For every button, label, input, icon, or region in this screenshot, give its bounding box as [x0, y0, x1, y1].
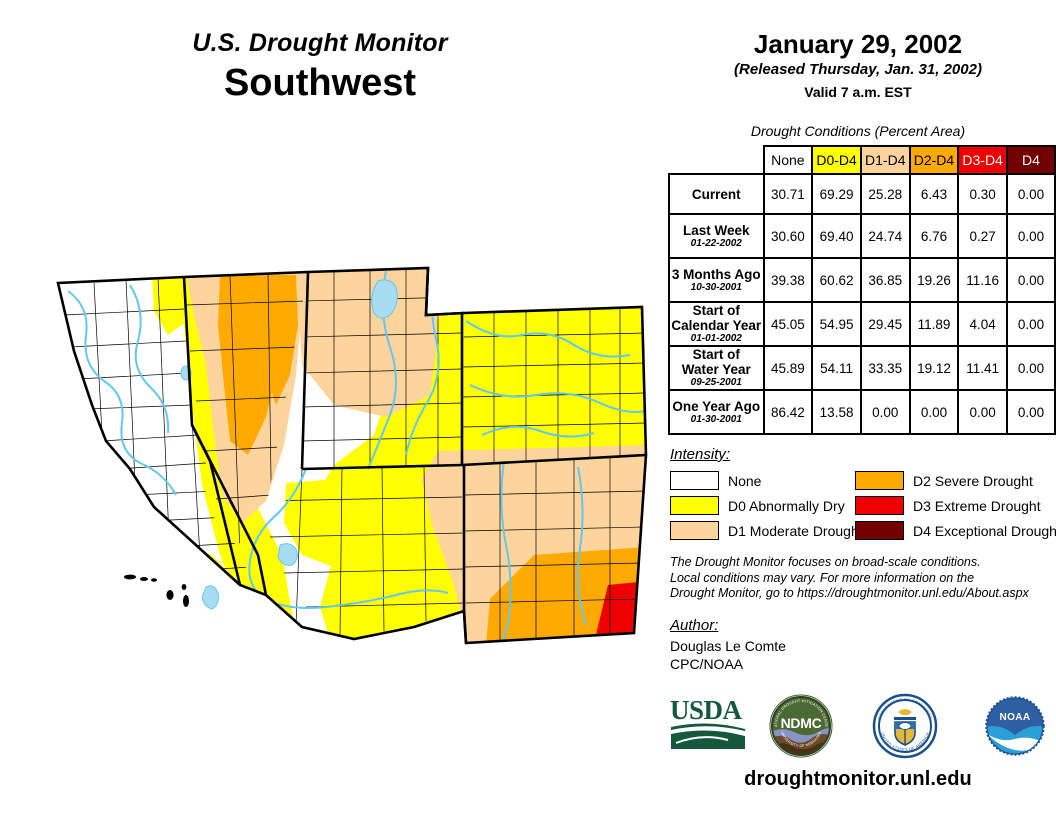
cell-d3-d4: 11.41	[958, 346, 1007, 390]
cell-d0-d4: 69.29	[812, 174, 861, 214]
legend-heading: Intensity:	[670, 446, 730, 463]
drought-map[interactable]	[34, 255, 654, 675]
cell-d1-d4: 0.00	[861, 390, 910, 434]
author-heading: Author:	[670, 617, 718, 634]
disclaimer-line-1: The Drought Monitor focuses on broad-sca…	[670, 555, 1050, 571]
legend-swatch-d2	[855, 471, 904, 490]
row-label-cell: Start of Water Year 09-25-2001	[669, 346, 764, 390]
column-header-d2-d4: D2-D4	[910, 146, 959, 174]
author-org: CPC/NOAA	[670, 655, 786, 673]
cell-d1-d4: 36.85	[861, 258, 910, 302]
cell-d3-d4: 4.04	[958, 302, 1007, 346]
table-row: Last Week 01-22-2002 30.60 69.40 24.74 6…	[669, 214, 1055, 258]
legend-item-d1: D1 Moderate Drought	[670, 518, 863, 543]
cell-d3-d4: 0.00	[958, 390, 1007, 434]
row-date: 01-01-2002	[670, 333, 763, 345]
row-label: 3 Months Ago	[670, 267, 763, 282]
legend-item-d2: D2 Severe Drought	[855, 468, 1056, 493]
table-row: Start of Water Year 09-25-2001 45.89 54.…	[669, 346, 1055, 390]
usdoc-logo[interactable]: DEPARTMENT OF COMMERCE UNITED STATES OF …	[872, 693, 938, 764]
row-label: One Year Ago	[670, 399, 763, 414]
cell-d1-d4: 33.35	[861, 346, 910, 390]
salton-sea	[202, 586, 218, 609]
legend-column-right: D2 Severe Drought D3 Extreme Drought D4 …	[855, 468, 1056, 543]
noaa-logo[interactable]: NOAA	[982, 693, 1048, 764]
column-header-d0-d4: D0-D4	[812, 146, 861, 174]
legend-swatch-none	[670, 471, 719, 490]
legend-column-left: None D0 Abnormally Dry D1 Moderate Droug…	[670, 468, 863, 543]
page-title-main: U.S. Drought Monitor	[0, 28, 640, 58]
report-header: January 29, 2002 (Released Thursday, Jan…	[660, 28, 1056, 102]
row-label: Start of Water Year	[670, 347, 763, 377]
row-label: Current	[670, 187, 763, 202]
cell-d2-d4: 0.00	[910, 390, 959, 434]
cell-d3-d4: 11.16	[958, 258, 1007, 302]
map-title-block: U.S. Drought Monitor Southwest	[0, 28, 640, 106]
cell-d4: 0.00	[1007, 174, 1055, 214]
usda-logo[interactable]: USDA	[668, 693, 748, 760]
legend-swatch-d4	[855, 521, 904, 540]
svg-text:USDA: USDA	[670, 695, 743, 725]
cell-d4: 0.00	[1007, 258, 1055, 302]
cell-d2-d4: 11.89	[910, 302, 959, 346]
table-row: One Year Ago 01-30-2001 86.42 13.58 0.00…	[669, 390, 1055, 434]
row-label-cell: Current	[669, 174, 764, 214]
table-caption: Drought Conditions (Percent Area)	[660, 122, 1056, 140]
cell-d2-d4: 19.12	[910, 346, 959, 390]
cell-d4: 0.00	[1007, 346, 1055, 390]
map-svg	[34, 255, 654, 675]
legend-swatch-d0	[670, 496, 719, 515]
row-label-cell: Last Week 01-22-2002	[669, 214, 764, 258]
table-corner-cell	[669, 146, 764, 174]
ndmc-logo[interactable]: NATIONAL DROUGHT MITIGATION CENTER UNIVE…	[768, 693, 834, 764]
channel-islands	[124, 575, 189, 607]
cell-none: 30.60	[764, 214, 813, 258]
table-row: Current 30.71 69.29 25.28 6.43 0.30 0.00	[669, 174, 1055, 214]
legend-label-d1: D1 Moderate Drought	[728, 523, 863, 539]
row-label: Start of Calendar Year	[670, 303, 763, 333]
cell-d0-d4: 60.62	[812, 258, 861, 302]
page-title-region: Southwest	[0, 60, 640, 106]
author-block: Douglas Le Comte CPC/NOAA	[670, 637, 786, 673]
legend-label-d0: D0 Abnormally Dry	[728, 498, 845, 514]
legend-swatch-d1	[670, 521, 719, 540]
row-label-cell: Start of Calendar Year 01-01-2002	[669, 302, 764, 346]
row-date: 10-30-2001	[670, 282, 763, 294]
cell-d2-d4: 6.76	[910, 214, 959, 258]
cell-d3-d4: 0.30	[958, 174, 1007, 214]
row-label-cell: One Year Ago 01-30-2001	[669, 390, 764, 434]
cell-none: 30.71	[764, 174, 813, 214]
cell-none: 39.38	[764, 258, 813, 302]
legend-swatch-d3	[855, 496, 904, 515]
row-date: 01-22-2002	[670, 238, 763, 250]
cell-d4: 0.00	[1007, 390, 1055, 434]
disclaimer-note: The Drought Monitor focuses on broad-sca…	[670, 555, 1050, 602]
table-body: Current 30.71 69.29 25.28 6.43 0.30 0.00…	[669, 174, 1055, 434]
column-header-d1-d4: D1-D4	[861, 146, 910, 174]
row-date: 09-25-2001	[670, 377, 763, 389]
legend-label-d3: D3 Extreme Drought	[913, 498, 1041, 514]
drought-monitor-page: U.S. Drought Monitor Southwest January 2…	[0, 0, 1056, 816]
row-label-cell: 3 Months Ago 10-30-2001	[669, 258, 764, 302]
svg-text:NDMC: NDMC	[781, 715, 822, 731]
legend-item-d3: D3 Extreme Drought	[855, 493, 1056, 518]
lake-mead	[278, 544, 297, 566]
report-released: (Released Thursday, Jan. 31, 2002)	[660, 60, 1056, 80]
column-header-d3-d4: D3-D4	[958, 146, 1007, 174]
legend-label-none: None	[728, 473, 761, 489]
drought-conditions-table: None D0-D4 D1-D4 D2-D4 D3-D4 D4 Current …	[668, 145, 1056, 435]
cell-d0-d4: 54.11	[812, 346, 861, 390]
table-header-row: None D0-D4 D1-D4 D2-D4 D3-D4 D4	[669, 146, 1055, 174]
disclaimer-line-3: Drought Monitor, go to https://droughtmo…	[670, 586, 1050, 602]
svg-text:NOAA: NOAA	[999, 712, 1030, 723]
cell-d3-d4: 0.27	[958, 214, 1007, 258]
cell-d2-d4: 19.26	[910, 258, 959, 302]
website-url[interactable]: droughtmonitor.unl.edu	[660, 768, 1056, 791]
legend-label-d4: D4 Exceptional Drought	[913, 523, 1056, 539]
cell-d1-d4: 24.74	[861, 214, 910, 258]
column-header-none: None	[764, 146, 813, 174]
cell-d0-d4: 13.58	[812, 390, 861, 434]
legend-label-d2: D2 Severe Drought	[913, 473, 1033, 489]
disclaimer-line-2: Local conditions may vary. For more info…	[670, 571, 1050, 587]
author-name: Douglas Le Comte	[670, 637, 786, 655]
legend-item-d4: D4 Exceptional Drought	[855, 518, 1056, 543]
cell-d0-d4: 69.40	[812, 214, 861, 258]
cell-d0-d4: 54.95	[812, 302, 861, 346]
cell-none: 86.42	[764, 390, 813, 434]
column-header-d4: D4	[1007, 146, 1055, 174]
logo-row: USDA	[660, 693, 1056, 763]
cell-d2-d4: 6.43	[910, 174, 959, 214]
cell-d1-d4: 25.28	[861, 174, 910, 214]
row-date: 01-30-2001	[670, 414, 763, 426]
cell-d4: 0.00	[1007, 214, 1055, 258]
cell-d1-d4: 29.45	[861, 302, 910, 346]
cell-none: 45.89	[764, 346, 813, 390]
cell-none: 45.05	[764, 302, 813, 346]
legend-item-d0: D0 Abnormally Dry	[670, 493, 863, 518]
report-date: January 29, 2002	[660, 28, 1056, 60]
legend-item-none: None	[670, 468, 863, 493]
table-row: Start of Calendar Year 01-01-2002 45.05 …	[669, 302, 1055, 346]
report-valid-time: Valid 7 a.m. EST	[660, 82, 1056, 102]
row-label: Last Week	[670, 223, 763, 238]
cell-d4: 0.00	[1007, 302, 1055, 346]
table-row: 3 Months Ago 10-30-2001 39.38 60.62 36.8…	[669, 258, 1055, 302]
